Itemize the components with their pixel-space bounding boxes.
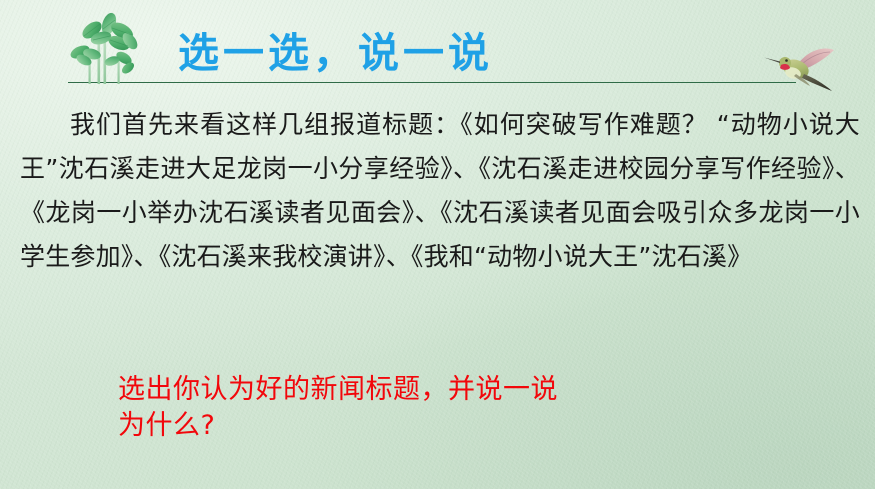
page-title: 选一选，说一说 <box>178 33 493 74</box>
slide-canvas: 选一选，说一说 我们首先来看这样几组报道标题：《如何突破写作难题？ “动物小说大… <box>0 0 875 489</box>
plant-sprout-icon <box>62 8 154 88</box>
prompt-line-1: 选出你认为好的新闻标题，并说一说 <box>118 372 758 408</box>
prompt-line-2: 为什么? <box>118 408 758 444</box>
body-paragraph: 我们首先来看这样几组报道标题：《如何突破写作难题？ “动物小说大王”沈石溪走进大… <box>20 103 860 279</box>
hummingbird-icon <box>762 44 842 92</box>
prompt-question: 选出你认为好的新闻标题，并说一说 为什么? <box>118 372 758 444</box>
header-divider-rule <box>68 82 796 83</box>
